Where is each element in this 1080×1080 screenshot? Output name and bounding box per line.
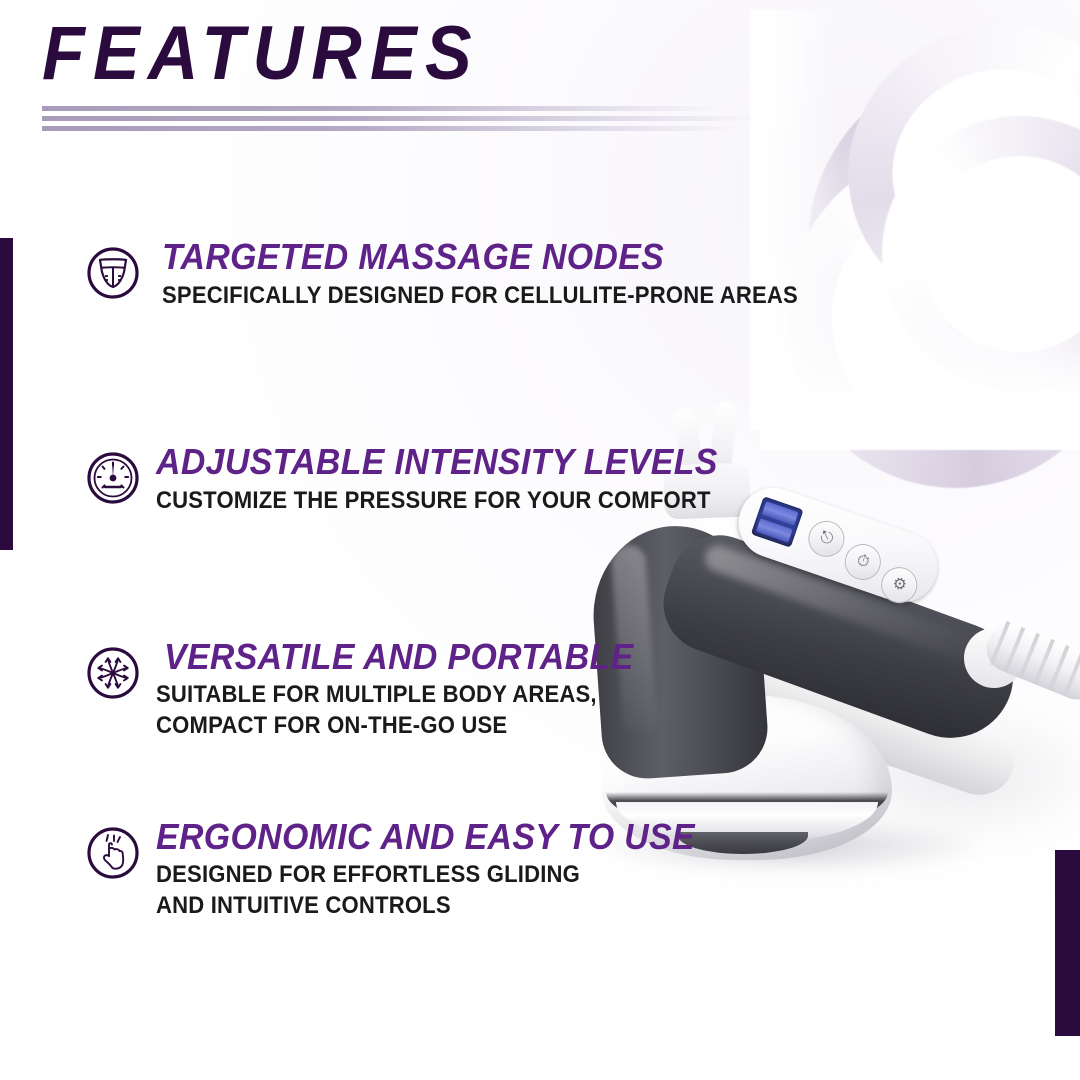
swirl-ring-3 — [754, 114, 1080, 519]
power-button[interactable]: ⎋ — [803, 516, 849, 562]
speed-button[interactable]: ⏱ — [840, 539, 886, 585]
page-title-block: FEATURES — [42, 16, 1042, 136]
feature-item: TARGETED MASSAGE NODES SPECIFICALLY DESI… — [86, 236, 853, 312]
feature-item: VERSATILE AND PORTABLE SUITABLE FOR MULT… — [86, 636, 664, 741]
features-poster: FEATURES ⎋ ⏱ — [0, 0, 1080, 1080]
control-panel[interactable]: ⎋ ⏱ ⚙ — [729, 478, 947, 611]
feature-heading: ERGONOMIC AND EASY TO USE — [156, 818, 695, 856]
feature-text: VERSATILE AND PORTABLE SUITABLE FOR MULT… — [156, 636, 664, 741]
speed-icon: ⏱ — [841, 540, 884, 583]
hand-tap-icon — [86, 826, 140, 880]
title-rule-1 — [42, 106, 742, 111]
lcd-segment-top — [762, 501, 799, 525]
left-accent-bar — [0, 238, 13, 550]
mode-icon: ⚙ — [878, 564, 921, 607]
handle-grip — [650, 522, 1029, 756]
feature-text: ERGONOMIC AND EASY TO USE DESIGNED FOR E… — [156, 816, 729, 921]
feature-item: ERGONOMIC AND EASY TO USE DESIGNED FOR E… — [86, 816, 729, 921]
cord-rib — [1033, 639, 1055, 685]
power-cord — [979, 617, 1080, 706]
feature-subtitle-line: CUSTOMIZE THE PRESSURE FOR YOUR COMFORT — [156, 486, 711, 517]
gauge-speedometer-icon — [86, 451, 140, 505]
feature-subtitle-line: AND INTUITIVE CONTROLS — [156, 891, 684, 922]
feature-subtitle-line: SPECIFICALLY DESIGNED FOR CELLULITE-PRON… — [162, 281, 798, 312]
feature-text: ADJUSTABLE INTENSITY LEVELS CUSTOMIZE TH… — [156, 441, 759, 517]
cord-strain-relief — [955, 619, 1033, 697]
feature-text: TARGETED MASSAGE NODES SPECIFICALLY DESI… — [156, 236, 853, 312]
cord-rib — [1063, 651, 1080, 697]
lcd-segment-bottom — [756, 518, 793, 542]
cord-rib — [989, 621, 1011, 667]
title-underline-rules — [42, 106, 1072, 131]
feature-heading: ADJUSTABLE INTENSITY LEVELS — [156, 443, 723, 481]
handle-underside — [699, 634, 1024, 804]
body-rear-silhouette-icon — [86, 246, 140, 300]
cord-rib — [1048, 645, 1070, 691]
cord-rib — [1003, 627, 1025, 673]
right-accent-bar — [1055, 850, 1080, 1036]
cord-rib — [1018, 633, 1040, 679]
feature-heading: VERSATILE AND PORTABLE — [164, 638, 634, 676]
swirl-ring-4 — [882, 116, 1080, 392]
feature-item: ADJUSTABLE INTENSITY LEVELS CUSTOMIZE TH… — [86, 441, 759, 517]
page-title: FEATURES — [42, 16, 962, 92]
feature-subtitle-line: DESIGNED FOR EFFORTLESS GLIDING — [156, 860, 684, 891]
title-rule-2 — [42, 116, 782, 121]
feature-subtitle-line: SUITABLE FOR MULTIPLE BODY AREAS, — [156, 680, 623, 711]
mode-button[interactable]: ⚙ — [876, 562, 922, 608]
feature-heading: TARGETED MASSAGE NODES — [162, 238, 812, 276]
product-soft-shadow — [810, 700, 1080, 850]
feature-subtitle-line: COMPACT FOR ON-THE-GO USE — [156, 711, 623, 742]
title-rule-3 — [42, 126, 760, 131]
multi-direction-arrows-icon — [86, 646, 140, 700]
power-icon: ⎋ — [805, 517, 848, 560]
